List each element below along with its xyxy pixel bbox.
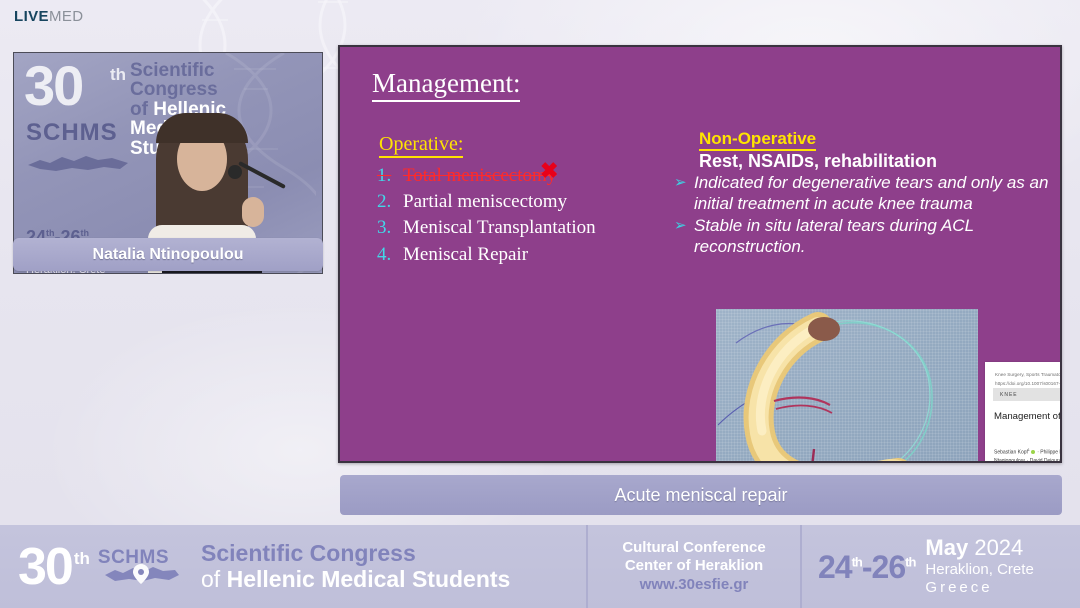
footer-date-sup2: th bbox=[905, 554, 915, 569]
paper-author-first: Sebastian Kopf bbox=[994, 450, 1028, 456]
footer-date-dash: - bbox=[862, 549, 872, 585]
footer-dates: 24th-26th bbox=[818, 551, 915, 583]
meniscus-specimen-photo bbox=[716, 309, 978, 463]
list-item-label: Meniscal Repair bbox=[403, 242, 528, 268]
congress-footer-banner: 30 th SCHMS Scientific Congress of Helle… bbox=[0, 525, 1080, 608]
slide-title: Management: bbox=[372, 69, 520, 102]
footer-date-end: 26 bbox=[872, 549, 906, 585]
operative-heading: Operative: bbox=[379, 133, 463, 158]
bullet-item: ➢ Indicated for degenerative tears and o… bbox=[674, 173, 1050, 214]
list-item-number: 2. bbox=[377, 189, 403, 215]
paper-authors-l1b: · Philippe Beaufils² · Michael T. Hirsch… bbox=[1036, 450, 1062, 456]
bullet-text: Indicated for degenerative tears and onl… bbox=[694, 173, 1050, 214]
slide-caption-bar: Acute meniscal repair bbox=[340, 475, 1062, 515]
overlay-title-l2: Congress bbox=[130, 79, 218, 100]
arrow-bullet-icon: ➢ bbox=[674, 216, 694, 257]
footer-venue-section: Cultural Conference Center of Heraklion … bbox=[586, 525, 802, 608]
footer-name-line1: Scientific Congress bbox=[201, 540, 416, 566]
list-item-number: 4. bbox=[377, 242, 403, 268]
crete-map-pin-icon bbox=[103, 561, 181, 587]
footer-number: 30 bbox=[18, 541, 72, 593]
logo-med-text: MED bbox=[49, 8, 84, 25]
slide-caption-text: Acute meniscal repair bbox=[614, 485, 787, 506]
footer-date-sup1: th bbox=[852, 554, 862, 569]
logo-live-text: LIVE bbox=[14, 8, 49, 25]
list-item: 3. Meniscal Transplantation bbox=[377, 215, 657, 241]
overlay-schms: SCHMS bbox=[26, 119, 118, 147]
livemed-logo[interactable]: LIVEMED bbox=[14, 9, 84, 24]
bullet-text: Stable in situ lateral tears during ACL … bbox=[694, 216, 1050, 257]
crete-island-icon bbox=[24, 149, 134, 175]
footer-ordinal: th bbox=[74, 549, 90, 569]
journal-article-thumbnail: Knee Surgery, Sports Traumatology, Arthr… bbox=[985, 362, 1062, 463]
overlay-date-sup2: th bbox=[81, 228, 90, 238]
section-tag-label: KNEE bbox=[1000, 392, 1018, 398]
speaker-name-bar: Natalia Ntinopoulou bbox=[13, 238, 323, 271]
footer-country: Greece bbox=[925, 579, 992, 596]
list-item: 4. Meniscal Repair bbox=[377, 242, 657, 268]
footer-left-section: 30 th SCHMS Scientific Congress of Helle… bbox=[0, 525, 586, 608]
meniscus-illustration bbox=[716, 309, 978, 463]
footer-name-of: of bbox=[201, 566, 227, 592]
orcid-icon bbox=[1031, 450, 1035, 454]
list-item: 1. Total meniscectomy bbox=[377, 163, 657, 189]
non-operative-bullets: ➢ Indicated for degenerative tears and o… bbox=[674, 173, 1050, 260]
operative-list: 1. Total meniscectomy 2. Partial menisce… bbox=[377, 163, 657, 268]
congress-website-link[interactable]: www.30esfie.gr bbox=[640, 576, 749, 593]
non-operative-subheading: Rest, NSAIDs, rehabilitation bbox=[699, 151, 937, 172]
arrow-bullet-icon: ➢ bbox=[674, 173, 694, 214]
overlay-title-l1: Scientific bbox=[130, 60, 214, 81]
footer-month: May bbox=[925, 535, 968, 560]
footer-city: Heraklion, Crete bbox=[925, 561, 1033, 578]
non-operative-heading: Non-Operative bbox=[699, 129, 816, 151]
overlay-number: 30 bbox=[24, 59, 82, 112]
footer-congress-name: Scientific Congress of Hellenic Medical … bbox=[201, 541, 510, 593]
footer-date-section: 24th-26th May 2024 Heraklion, Crete Gree… bbox=[802, 525, 1080, 608]
list-item-label: Partial meniscectomy bbox=[403, 189, 567, 215]
venue-line1: Cultural Conference bbox=[622, 539, 765, 556]
overlay-ordinal: th bbox=[110, 65, 126, 85]
list-item: 2. Partial meniscectomy bbox=[377, 189, 657, 215]
journal-citation: Knee Surgery, Sports Traumatology, Arthr… bbox=[995, 371, 1062, 388]
paper-authors: Sebastian Kopf1 · Philippe Beaufils² · M… bbox=[994, 448, 1062, 463]
venue-line2: Center of Heraklion bbox=[625, 557, 763, 574]
bullet-item: ➢ Stable in situ lateral tears during AC… bbox=[674, 216, 1050, 257]
list-item-number: 3. bbox=[377, 215, 403, 241]
section-tag-bar: KNEE bbox=[993, 388, 1062, 401]
speaker-name-label: Natalia Ntinopoulou bbox=[92, 246, 243, 264]
overlay-date-sup1: th bbox=[46, 228, 55, 238]
list-item-label: Meniscal Transplantation bbox=[403, 215, 596, 241]
footer-name-line2: Hellenic Medical Students bbox=[227, 566, 511, 592]
paper-title: Management of traumatic meniscus tears: … bbox=[994, 411, 1062, 424]
presentation-slide[interactable]: Management: Operative: 1. Total meniscec… bbox=[338, 45, 1062, 463]
footer-year: 2024 bbox=[974, 535, 1023, 560]
list-item-number: 1. bbox=[377, 163, 403, 189]
cross-out-icon: ✖ bbox=[540, 160, 558, 182]
journal-citation-line: Knee Surgery, Sports Traumatology, Arthr… bbox=[995, 371, 1062, 380]
footer-date-start: 24 bbox=[818, 549, 852, 585]
list-item-label: Total meniscectomy bbox=[403, 163, 556, 189]
footer-location-block: May 2024 Heraklion, Crete Greece bbox=[925, 535, 1033, 599]
